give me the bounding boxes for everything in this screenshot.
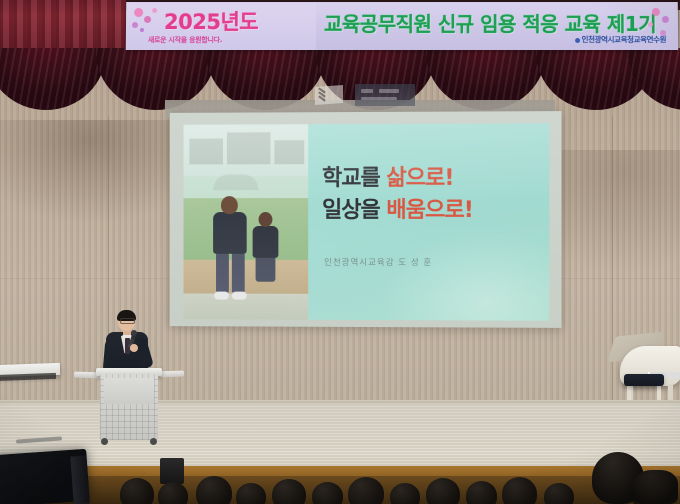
banner-main-title: 교육공무직원 신규 임용 적응 교육 제1기 [324,8,656,37]
photo-building-3 [274,140,304,164]
slide-glow [378,230,549,321]
photo-adult-torso [213,212,247,254]
banner-year: 2025년도 [164,6,258,36]
organization-dot-icon [575,38,580,43]
foreground-monitor-edge [70,456,89,504]
audience-head [196,476,232,504]
photo-child-torso [253,226,279,258]
podium-front-panel [104,378,154,404]
photo-building-2 [227,132,271,164]
wall-emblem [355,84,415,106]
slide-line2-dark: 일상을 [322,198,386,223]
audience-head [158,482,188,504]
slide-text-area: 학교를 삶으로! 일상을 배움으로! 인천광역시교육감 도 성 훈 [308,123,549,321]
audience-head [120,478,154,504]
speaker-hand [130,344,138,352]
podium-wheel-left [101,438,108,445]
audience-head [236,483,266,504]
photo-child-legs [256,256,276,282]
photo-arch [213,174,258,190]
photo-child-head [259,212,273,227]
sakura-icon-3 [132,22,138,28]
piano-bench [624,374,664,386]
sakura-icon-1 [134,8,143,17]
photo-adult-shoe-right [232,292,247,300]
sakura-icon-4 [152,8,157,13]
photo-building-1 [189,138,223,164]
wall-seam-2 [612,116,613,406]
audience-head [390,483,420,504]
curtain-left-folds [0,0,126,52]
photo-adult-shoe-left [214,292,229,300]
projection-screen: 학교를 삶으로! 일상을 배움으로! 인천광역시교육감 도 성 훈 [170,111,562,328]
audience-row [0,474,680,504]
microphone-head-icon [131,330,137,336]
photo-adult-leg-right [232,252,245,294]
banner-right-flowers [630,4,674,48]
slide-credit: 인천광역시교육감 도 성 훈 [324,256,432,268]
speaker-glasses-icon [120,318,135,324]
slide-line2-red: 배움으로! [386,198,472,223]
korean-flag-icon [315,85,343,105]
audience-head [348,477,384,504]
audience-head [312,482,343,504]
slide-headline-line2: 일상을 배움으로! [322,200,473,222]
audience-person-foreground [634,470,678,504]
slide-line1-dark: 학교를 [322,166,386,191]
auditorium-scene: 2025년도 새로운 시작을 응원합니다. 교육공무직원 신규 임용 적응 교육… [0,0,680,504]
audience-head [502,477,537,504]
podium-wheel-right [150,438,157,445]
audience-head [544,483,574,504]
slide-headline-line1: 학교를 삶으로! [322,168,453,190]
projected-slide: 학교를 삶으로! 일상을 배움으로! 인천광역시교육감 도 성 훈 [184,123,550,321]
event-banner: 2025년도 새로운 시작을 응원합니다. 교육공무직원 신규 임용 적응 교육… [126,2,678,50]
photo-adult-head [221,196,238,214]
sakura-icon-2 [144,16,151,23]
audience-head [426,478,460,504]
audience-head [466,481,497,504]
slide-line1-red: 삶으로! [386,166,453,191]
slide-photo [184,124,309,320]
photo-bench [184,260,309,294]
audience-head [272,479,306,504]
sakura-icon-5 [140,28,144,32]
banner-tagline: 새로운 시작을 응원합니다. [148,35,222,45]
photo-adult-leg-left [216,252,229,294]
